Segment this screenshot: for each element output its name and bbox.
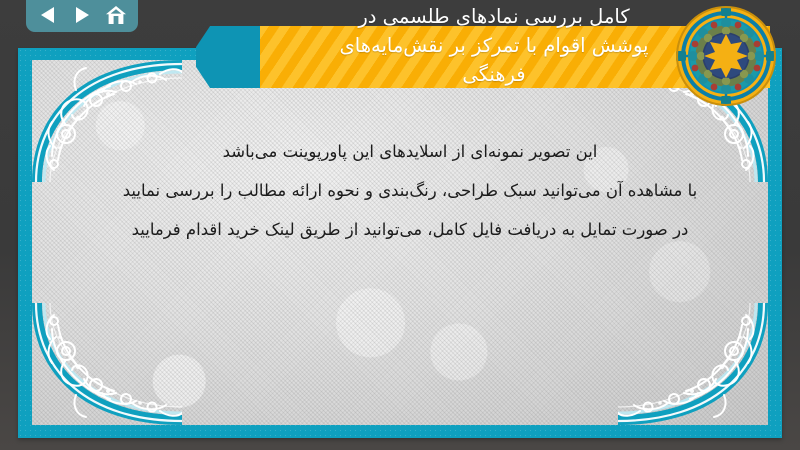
slide-text-line-2: با مشاهده آن می‌توانید سبک طراحی، رنگ‌بن… — [60, 171, 760, 210]
slide-body-text: این تصویر نمونه‌ای از اسلایدهای این پاور… — [60, 132, 760, 249]
mandala-medallion-icon — [674, 4, 778, 108]
slide-viewer: این تصویر نمونه‌ای از اسلایدهای این پاور… — [0, 0, 800, 450]
home-icon — [106, 6, 126, 25]
forward-button[interactable] — [69, 3, 95, 27]
forward-triangle-icon — [74, 6, 90, 24]
navigation-bar — [26, 0, 138, 32]
home-button[interactable] — [103, 3, 129, 27]
back-triangle-icon — [40, 6, 56, 24]
back-button[interactable] — [35, 3, 61, 27]
slide-text-line-3: در صورت تمایل به دریافت فایل کامل، می‌تو… — [60, 210, 760, 249]
slide-text-line-1: این تصویر نمونه‌ای از اسلایدهای این پاور… — [60, 132, 760, 171]
